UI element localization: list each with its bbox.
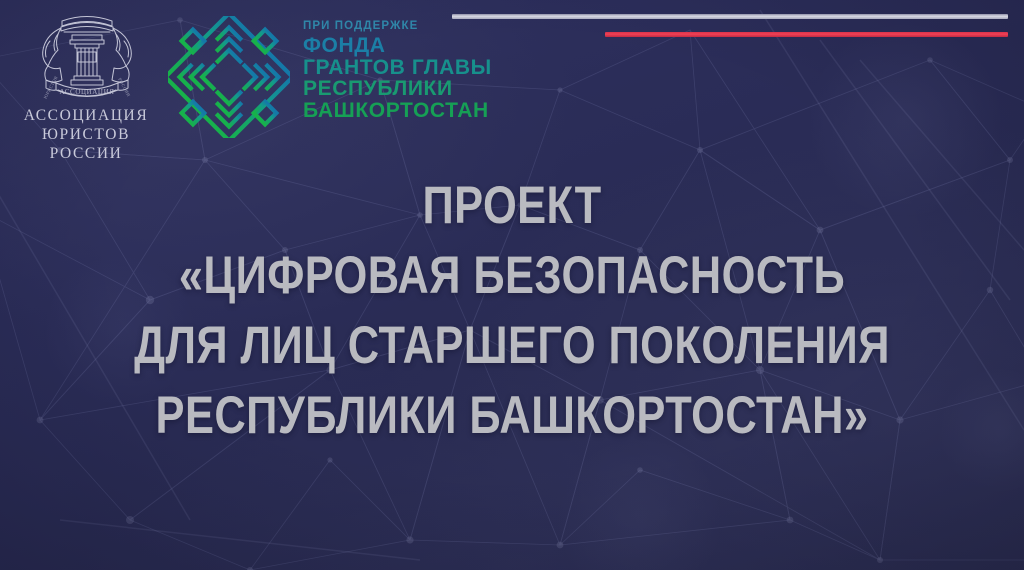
grants-fund-logo-icon [168,16,290,138]
presentation-slide: АССОЦИАЦИЯ ЮРИСТОВ РОССИИ АССОЦИАЦИЯ ЮРИ… [0,0,1024,570]
project-title-line-3: ДЛЯ ЛИЦ СТАРШЕГО ПОКОЛЕНИЯ [92,311,932,381]
project-title-line-4: РЕСПУБЛИКИ БАШКОРТОСТАН» [92,381,932,451]
svg-text:АССОЦИАЦИЯ: АССОЦИАЦИЯ [59,88,114,96]
fund-support-label: ПРИ ПОДДЕРЖКЕ [303,19,533,33]
fund-name-line-2: ГРАНТОВ ГЛАВЫ [303,57,533,79]
red-rule [605,32,1008,37]
silver-rule [452,14,1008,19]
project-title-line-1: ПРОЕКТ [92,171,932,241]
grants-fund-text-block: ПРИ ПОДДЕРЖКЕ ФОНДА ГРАНТОВ ГЛАВЫ РЕСПУБ… [303,19,533,121]
project-title-line-2: «ЦИФРОВАЯ БЕЗОПАСНОСТЬ [92,241,932,311]
project-title: ПРОЕКТ «ЦИФРОВАЯ БЕЗОПАСНОСТЬ ДЛЯ ЛИЦ СТ… [0,171,1024,451]
svg-text:РОССИИ: РОССИИ [117,77,131,98]
emblem-wordmark-line-2: ЮРИСТОВ РОССИИ [10,125,162,163]
coat-of-arms-icon: АССОЦИАЦИЯ ЮРИСТОВ РОССИИ [28,10,146,106]
fund-name-line-4: БАШКОРТОСТАН [303,100,533,122]
fund-name-line-1: ФОНДА [303,35,533,57]
association-emblem: АССОЦИАЦИЯ ЮРИСТОВ РОССИИ АССОЦИАЦИЯ ЮРИ… [10,8,162,150]
emblem-wordmark: АССОЦИАЦИЯ ЮРИСТОВ РОССИИ [10,106,162,163]
fund-name-line-3: РЕСПУБЛИКИ [303,78,533,100]
emblem-wordmark-line-1: АССОЦИАЦИЯ [10,106,162,125]
